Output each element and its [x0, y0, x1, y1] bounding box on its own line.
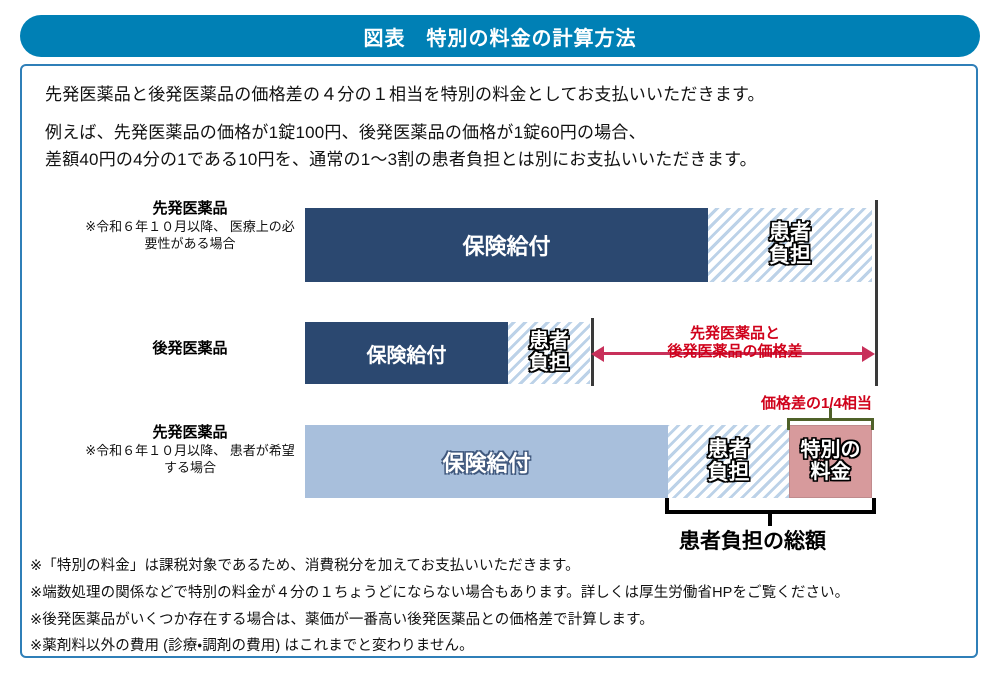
footnote-2: ※端数処理の関係などで特別の料金が４分の１ちょうどにならない場合もあります。詳し…	[30, 583, 960, 605]
total-burden-bracket-stem	[768, 512, 772, 526]
intro-line-1: 先発医薬品と後発医薬品の価格差の４分の１相当を特別の料金としてお支払いいただきま…	[45, 82, 950, 108]
intro-line-3: 差額40円の4分の1である10円を、通常の1〜3割の患者負担とは別にお支払いいた…	[45, 147, 950, 173]
footnote-1: ※「特別の料金」は課税対象であるため、消費税分を加えてお支払いいただきます。	[30, 556, 960, 578]
row-1-note: ※令和６年１０月以降、 医療上の必要性がある場合	[85, 219, 295, 253]
price-gap-arrow-label: 先発医薬品と 後発医薬品の価格差	[620, 325, 850, 361]
row-2-patient-burden-segment: 患者 負担	[508, 322, 590, 384]
row-3-note: ※令和６年１０月以降、 患者が希望する場合	[85, 443, 295, 477]
row-1-title: 先発医薬品	[85, 200, 295, 219]
total-burden-caption: 患者負担の総額	[679, 525, 826, 555]
row-3-insurance-segment: 保険給付	[305, 425, 668, 498]
footnote-3: ※後発医薬品がいくつか存在する場合は、薬価が一番高い後発医薬品との価格差で計算し…	[30, 610, 960, 632]
row-3-insurance-label: 保険給付	[442, 446, 530, 478]
page-title: 図表 特別の料金の計算方法	[364, 22, 637, 51]
price-gap-arrow-head-right	[862, 346, 875, 362]
row-2-patient-burden-label: 患者 負担	[529, 331, 569, 374]
row-3-patient-burden-label: 患者 負担	[708, 439, 750, 484]
footnotes-block: ※「特別の料金」は課税対象であるため、消費税分を加えてお支払いいただきます。 ※…	[30, 556, 960, 663]
row-2-insurance-segment: 保険給付	[305, 322, 508, 384]
row-label-brand-patient-request: 先発医薬品 ※令和６年１０月以降、 患者が希望する場合	[85, 424, 295, 477]
row-1-insurance-segment: 保険給付	[305, 208, 708, 282]
row-3-special-fee-segment: 特別の 料金	[789, 425, 872, 498]
intro-text-block: 先発医薬品と後発医薬品の価格差の４分の１相当を特別の料金としてお支払いいただきま…	[45, 82, 950, 173]
price-gap-arrow-head-left	[591, 346, 604, 362]
row-label-generic: 後発医薬品	[85, 340, 295, 359]
footnote-4: ※薬剤料以外の費用 (診療・調剤の費用) はこれまでと変わりません。	[30, 636, 960, 658]
row-2-title: 後発医薬品	[85, 340, 295, 359]
row-label-brand-medical-need: 先発医薬品 ※令和６年１０月以降、 医療上の必要性がある場合	[85, 200, 295, 253]
row-2-insurance-label: 保険給付	[367, 339, 447, 368]
figure-header-banner: 図表 特別の料金の計算方法	[20, 15, 980, 57]
guide-line-brand-right	[875, 200, 878, 386]
figure-page: 図表 特別の料金の計算方法 先発医薬品と後発医薬品の価格差の４分の１相当を特別の…	[0, 0, 1000, 676]
intro-line-2: 例えば、先発医薬品の価格が1錠100円、後発医薬品の価格が1錠60円の場合、	[45, 120, 950, 146]
row-3-special-fee-label: 特別の 料金	[801, 440, 861, 483]
row-1-insurance-label: 保険給付	[462, 229, 550, 261]
row-1-patient-burden-segment: 患者 負担	[708, 208, 872, 282]
row-3-patient-burden-segment: 患者 負担	[668, 425, 789, 498]
row-1-patient-burden-label: 患者 負担	[769, 222, 811, 267]
quarter-bracket-caption: 価格差の1/4相当	[761, 392, 872, 413]
row-3-title: 先発医薬品	[85, 424, 295, 443]
